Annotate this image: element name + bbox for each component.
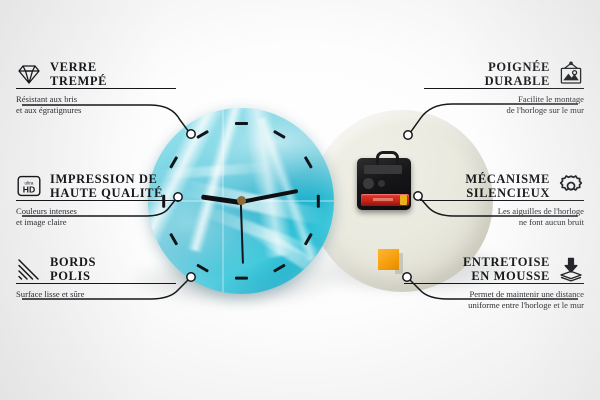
- callout-title-line1: BORDS: [50, 255, 96, 269]
- callout-impression-haute-qualite: ultra HD IMPRESSION DE HAUTE QUALITÉ Cou…: [16, 172, 181, 227]
- clock-tick: [235, 277, 248, 280]
- mechanism-dial-b: [378, 180, 385, 187]
- clock-mechanism: [357, 158, 411, 210]
- foam-spacer-icon: [558, 256, 584, 282]
- callout-title-line1: VERRE: [50, 60, 107, 74]
- callout-rule: [16, 200, 181, 201]
- clock-tick: [273, 264, 286, 273]
- callout-sub-line1: Surface lisse et sûre: [16, 289, 176, 299]
- callout-sub-line1: Couleurs intenses: [16, 206, 181, 216]
- polished-edges-icon: [16, 256, 42, 282]
- callout-poignee-durable: POIGNÉE DURABLE Facilite le montage de l…: [424, 60, 584, 115]
- callout-sub-line2: et image claire: [16, 217, 181, 227]
- battery-cap: [400, 195, 407, 205]
- callout-title-line1: IMPRESSION DE: [50, 172, 163, 186]
- callout-verre-trempe: VERRE TREMPÉ Résistant aux bris et aux é…: [16, 60, 176, 115]
- callout-title-line2: DURABLE: [485, 74, 550, 88]
- callout-entretoise-en-mousse: ENTRETOISE EN MOUSSE Permet de maintenir…: [404, 255, 584, 310]
- callout-bords-polis: BORDS POLIS Surface lisse et sûre: [16, 255, 176, 300]
- callout-sub-line1: Résistant aux bris: [16, 94, 176, 104]
- gear-icon: [558, 173, 584, 199]
- callout-rule: [16, 283, 176, 284]
- callout-sub-line2: de l'horloge sur le mur: [424, 105, 584, 115]
- callout-rule: [404, 283, 584, 284]
- callout-sub-line1: Facilite le montage: [424, 94, 584, 104]
- callout-sub-line1: Les aiguilles de l'horloge: [420, 206, 584, 216]
- clock-tick: [235, 122, 248, 125]
- diamond-icon: [16, 61, 42, 87]
- battery-band: [373, 198, 393, 201]
- foam-spacer: [378, 249, 399, 270]
- clock-center-cap: [237, 196, 246, 205]
- svg-text:HD: HD: [23, 185, 35, 195]
- callout-rule: [420, 200, 584, 201]
- callout-title-line2: TREMPÉ: [50, 74, 107, 88]
- clock-tick: [317, 194, 320, 207]
- callout-title-line1: ENTRETOISE: [463, 255, 550, 269]
- battery: [361, 194, 409, 206]
- clock-tick: [304, 156, 313, 169]
- mechanism-slot: [364, 165, 402, 174]
- callout-title-line2: POLIS: [50, 269, 96, 283]
- callout-sub-line2: et aux égratignures: [16, 105, 176, 115]
- mechanism-hanger-loop: [376, 151, 399, 166]
- callout-title-line1: MÉCANISME: [465, 172, 550, 186]
- callout-title-line2: EN MOUSSE: [463, 269, 550, 283]
- callout-mecanisme-silencieux: MÉCANISME SILENCIEUX Les aiguilles de l'…: [420, 172, 584, 227]
- picture-hanger-icon: [558, 61, 584, 87]
- callout-title-line1: POIGNÉE: [485, 60, 550, 74]
- callout-rule: [424, 88, 584, 89]
- callout-sub-line1: Permet de maintenir une distance: [404, 289, 584, 299]
- callout-title-line2: HAUTE QUALITÉ: [50, 186, 163, 200]
- callout-rule: [16, 88, 176, 89]
- callout-title-line2: SILENCIEUX: [465, 186, 550, 200]
- mechanism-dial-a: [363, 178, 374, 189]
- infographic-canvas: VERRE TREMPÉ Résistant aux bris et aux é…: [0, 0, 600, 400]
- ultra-hd-icon: ultra HD: [16, 173, 42, 199]
- callout-sub-line2: uniforme entre l'horloge et le mur: [404, 300, 584, 310]
- callout-sub-line2: ne font aucun bruit: [420, 217, 584, 227]
